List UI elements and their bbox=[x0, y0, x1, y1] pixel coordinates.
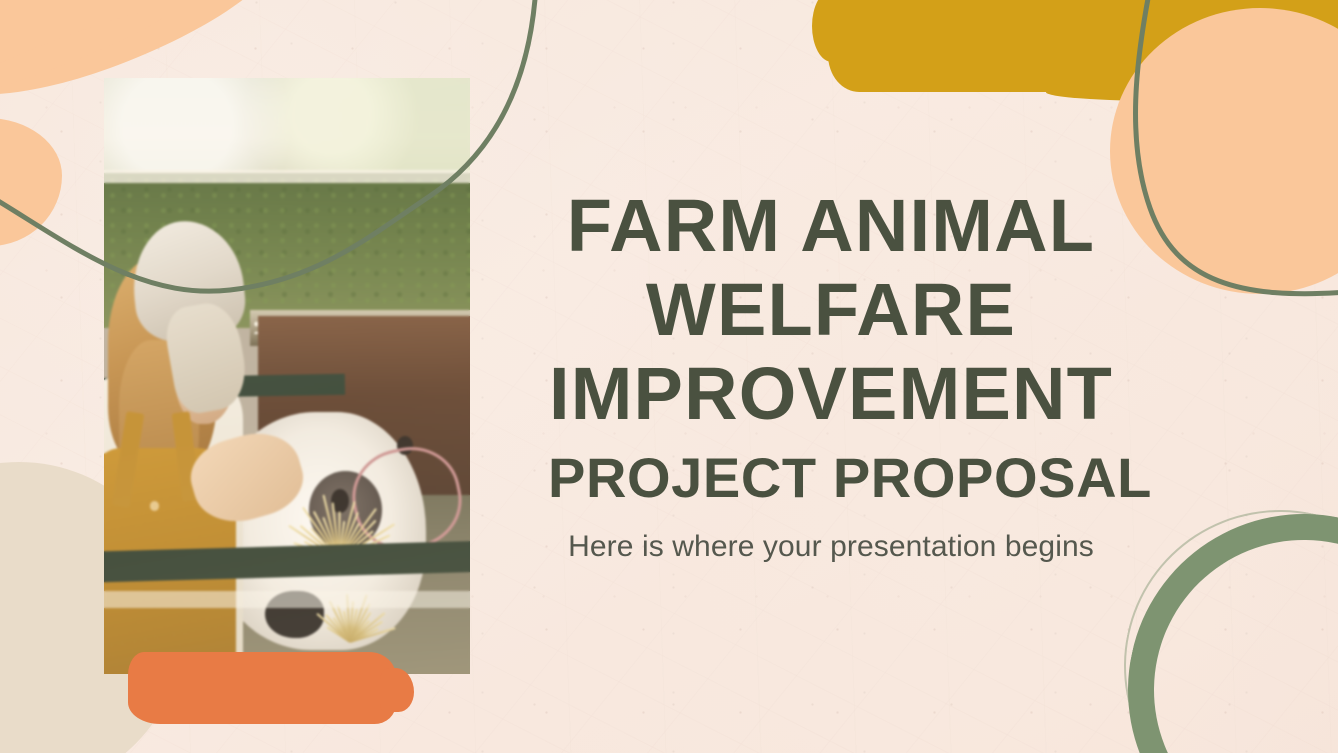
slide-tagline: Here is where your presentation begins bbox=[548, 526, 1114, 568]
slide-subtitle: PROJECT PROPOSAL bbox=[548, 444, 1114, 512]
title-line-2: WELFARE bbox=[548, 268, 1114, 352]
slide-text-block: FARM ANIMAL WELFARE IMPROVEMENT PROJECT … bbox=[548, 184, 1114, 568]
title-line-1: FARM ANIMAL bbox=[548, 184, 1114, 268]
presentation-slide: FARM ANIMAL WELFARE IMPROVEMENT PROJECT … bbox=[0, 0, 1338, 753]
title-line-3: IMPROVEMENT bbox=[548, 352, 1114, 436]
